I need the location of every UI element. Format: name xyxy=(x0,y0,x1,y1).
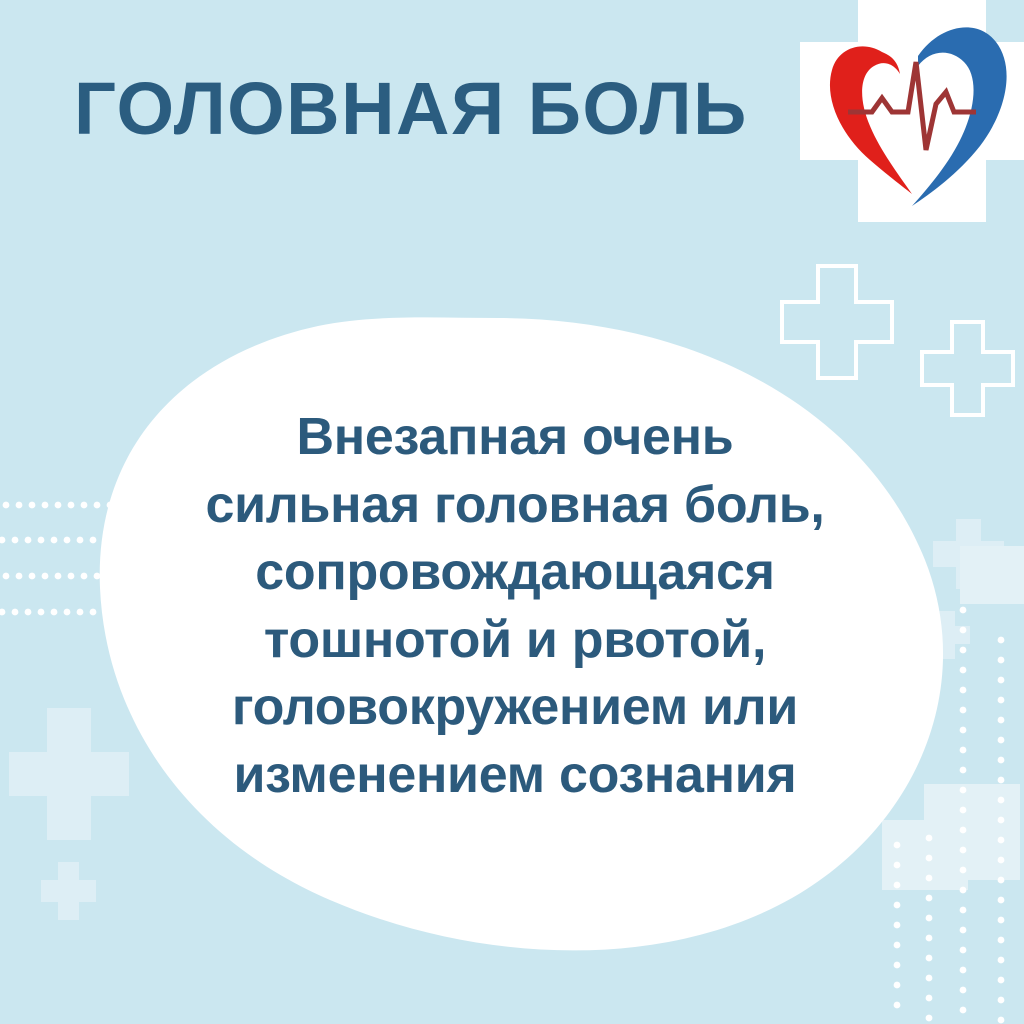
message-line: сильная головная боль, xyxy=(130,472,900,540)
poster-canvas: ГОЛОВНАЯ БОЛЬ Внезапная очень сильная го… xyxy=(0,0,1024,1024)
message-line: сопровождающаяся xyxy=(130,539,900,607)
message-line: головокружением или xyxy=(130,674,900,742)
message-line: изменением сознания xyxy=(130,742,900,810)
heart-pulse-cross-logo xyxy=(790,0,1024,232)
message-line: тошнотой и рвотой, xyxy=(130,607,900,675)
page-title: ГОЛОВНАЯ БОЛЬ xyxy=(74,72,748,146)
message-text: Внезапная очень сильная головная боль, с… xyxy=(130,404,900,810)
message-line: Внезапная очень xyxy=(130,404,900,472)
